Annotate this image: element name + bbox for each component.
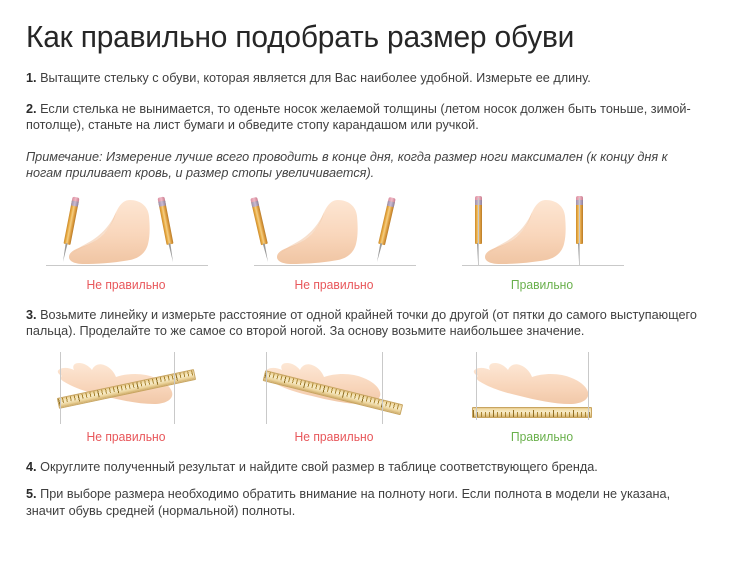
ground-line bbox=[462, 265, 624, 266]
ground-line bbox=[46, 265, 208, 266]
step-5-number: 5. bbox=[26, 486, 37, 501]
pencil-ferrule bbox=[71, 200, 79, 206]
caption-wrong: Не правильно bbox=[46, 272, 205, 293]
caption-wrong: Не правильно bbox=[254, 424, 413, 445]
pencil-figure-correct: Правильно bbox=[460, 194, 624, 293]
step-3-text: Возьмите линейку и измерьте расстояние о… bbox=[26, 307, 697, 339]
caption-correct: Правильно bbox=[462, 272, 621, 293]
pencil-illustration-row: Не правильно bbox=[26, 182, 726, 293]
vertical-guide-left bbox=[478, 198, 479, 266]
figure-canvas bbox=[252, 352, 416, 424]
step-3: 3. Возьмите линейку и измерьте расстояни… bbox=[26, 293, 707, 340]
vertical-guide-right bbox=[579, 198, 580, 266]
vertical-guide-right bbox=[174, 352, 175, 424]
ruler-illustration-row: Не правильно Не правильно bbox=[26, 340, 726, 445]
ruler-figure-wrong-1: Не правильно bbox=[44, 352, 208, 445]
figure-canvas bbox=[460, 194, 624, 272]
pencil-lead bbox=[62, 243, 68, 262]
step-1-text: Вытащите стельку с обуви, которая являет… bbox=[37, 70, 591, 85]
figure-canvas bbox=[460, 352, 624, 424]
step-2: 2. Если стелька не вынимается, то оденьт… bbox=[26, 87, 707, 134]
figure-canvas bbox=[44, 352, 208, 424]
step-5: 5. При выборе размера необходимо обратит… bbox=[26, 475, 707, 519]
ruler-figure-correct: Правильно bbox=[460, 352, 624, 445]
ruler-major-ticks bbox=[473, 410, 591, 417]
step-4: 4. Округлите полученный результат и найд… bbox=[26, 445, 707, 476]
foot-side-profile-icon bbox=[460, 194, 624, 272]
step-1-number: 1. bbox=[26, 70, 37, 85]
pencil-ferrule bbox=[158, 200, 166, 206]
pencil-lead bbox=[263, 243, 269, 262]
ruler-icon bbox=[472, 407, 592, 418]
vertical-guide-left bbox=[476, 352, 477, 420]
vertical-guide-right bbox=[382, 352, 383, 424]
ground-line bbox=[254, 265, 416, 266]
page-title: Как правильно подобрать размер обуви bbox=[26, 0, 700, 56]
step-4-text: Округлите полученный результат и найдите… bbox=[37, 459, 598, 474]
caption-correct: Правильно bbox=[462, 424, 621, 445]
step-3-number: 3. bbox=[26, 307, 37, 322]
step-1: 1. Вытащите стельку с обуви, которая явл… bbox=[26, 56, 707, 87]
step-4-number: 4. bbox=[26, 459, 37, 474]
vertical-guide-right bbox=[588, 352, 589, 420]
pencil-lead bbox=[169, 243, 175, 262]
pencil-figure-wrong-2: Не правильно bbox=[252, 194, 416, 293]
pencil-ferrule bbox=[251, 200, 259, 206]
caption-wrong: Не правильно bbox=[254, 272, 413, 293]
step-2-text: Если стелька не вынимается, то оденьте н… bbox=[26, 101, 691, 133]
step-2-number: 2. bbox=[26, 101, 37, 116]
step-5-text: При выборе размера необходимо обратить в… bbox=[26, 486, 670, 518]
page-root: Как правильно подобрать размер обуви 1. … bbox=[0, 0, 750, 564]
note-paragraph: Примечание: Измерение лучше всего провод… bbox=[26, 134, 707, 182]
pencil-figure-wrong-1: Не правильно bbox=[44, 194, 208, 293]
vertical-guide-left bbox=[266, 352, 267, 424]
pencil-ferrule bbox=[387, 200, 395, 206]
pencil-lead bbox=[376, 243, 382, 262]
ruler-figure-wrong-2: Не правильно bbox=[252, 352, 416, 445]
figure-canvas bbox=[44, 194, 208, 272]
caption-wrong: Не правильно bbox=[46, 424, 205, 445]
figure-canvas bbox=[252, 194, 416, 272]
vertical-guide-left bbox=[60, 352, 61, 424]
